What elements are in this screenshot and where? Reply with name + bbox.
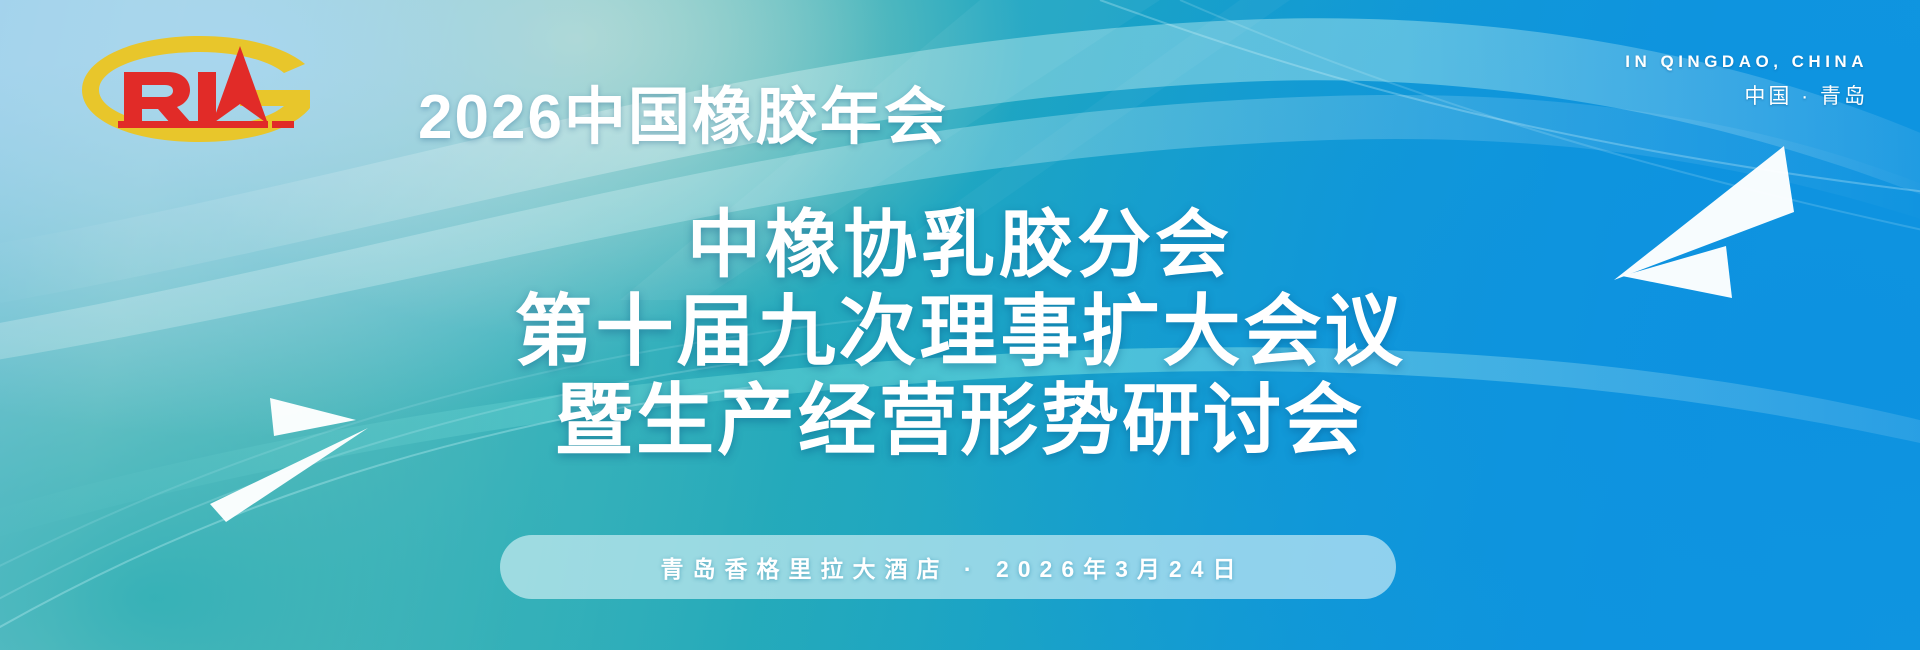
logo-underline-tail <box>272 121 294 128</box>
venue-date-text: 青岛香格里拉大酒店 · 2026年3月24日 <box>652 550 1245 584</box>
title-block: 中橡协乳胶分会 第十届九次理事扩大会议 暨生产经营形势研讨会 <box>0 206 1920 462</box>
logo-underline <box>118 121 268 128</box>
cria-logo <box>72 28 322 148</box>
locale-english: IN QINGDAO, CHINA <box>1625 52 1868 72</box>
banner-headline: 2026中国橡胶年会 <box>418 66 948 156</box>
logo-letter-i <box>198 72 216 124</box>
title-line-2: 第十届九次理事扩大会议 <box>514 290 1405 373</box>
locale-chinese: 中国 · 青岛 <box>1625 84 1868 109</box>
cria-logo-mark <box>72 28 322 148</box>
logo-letter-r <box>124 72 192 124</box>
venue-date-pill: 青岛香格里拉大酒店 · 2026年3月24日 <box>500 535 1396 599</box>
title-line-3: 暨生产经营形势研讨会 <box>555 379 1365 462</box>
locale-block: IN QINGDAO, CHINA 中国 · 青岛 <box>1625 52 1868 110</box>
title-line-1: 中橡协乳胶分会 <box>687 206 1233 284</box>
conference-banner: 2026中国橡胶年会 IN QINGDAO, CHINA 中国 · 青岛 中橡协… <box>0 0 1920 650</box>
